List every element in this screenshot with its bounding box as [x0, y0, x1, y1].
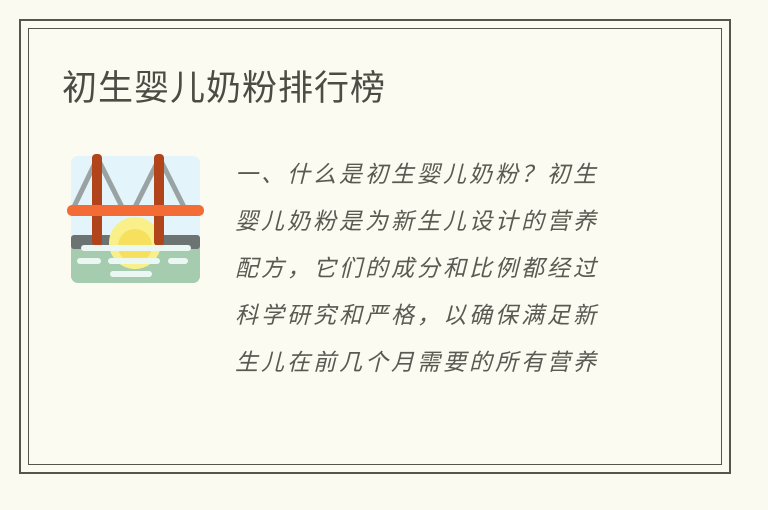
body-line: 婴儿奶粉是为新生儿设计的营养 [235, 198, 655, 245]
body-line: 科学研究和严格，以确保满足新 [235, 292, 655, 339]
page-root: 初生婴儿奶粉排行榜 [0, 0, 768, 510]
suspension-bridge-sunset-icon [62, 148, 209, 291]
body-line: 一、什么是初生婴儿奶粉？初生 [235, 151, 655, 198]
article-card: 初生婴儿奶粉排行榜 [29, 29, 721, 464]
bridge-illustration-svg [62, 148, 209, 291]
article-body: 一、什么是初生婴儿奶粉？初生 婴儿奶粉是为新生儿设计的营养 配方，它们的成分和比… [235, 151, 655, 386]
page-title: 初生婴儿奶粉排行榜 [62, 68, 386, 110]
body-line: 配方，它们的成分和比例都经过 [235, 245, 655, 292]
body-line: 生儿在前几个月需要的所有营养 [235, 339, 655, 386]
